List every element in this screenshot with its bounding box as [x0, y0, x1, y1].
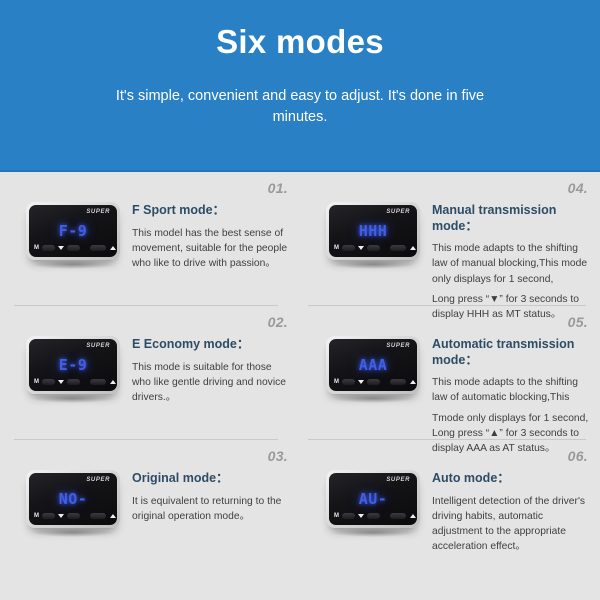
- device-button-up-pad[interactable]: [90, 513, 106, 519]
- device-button-down-pad[interactable]: [367, 245, 380, 251]
- device-button-row: M: [334, 510, 412, 521]
- device-button-row: M: [334, 242, 412, 253]
- mode-text-block: Manual transmission mode：This mode adapt…: [432, 180, 590, 306]
- device-face: SUPERAU-M: [329, 473, 417, 525]
- throttle-controller-device: SUPERAAAM: [326, 336, 420, 394]
- mode-number: 04.: [568, 180, 588, 196]
- device-led-display: NO-: [29, 490, 117, 508]
- device-button-row: M: [34, 510, 112, 521]
- device-led-display: AAA: [329, 356, 417, 374]
- mode-title: Original mode：: [132, 471, 290, 487]
- mode-row: 01.SUPERF-9MF Sport mode：This model has …: [0, 172, 600, 306]
- device-brand-logo: SUPER: [86, 209, 110, 215]
- mode-description: Intelligent detection of the driver's dr…: [432, 494, 590, 555]
- triangle-up-icon[interactable]: [410, 514, 416, 518]
- page-title: Six modes: [0, 24, 600, 60]
- throttle-controller-device: SUPERAU-M: [326, 470, 420, 528]
- page-header: Six modes It's simple, convenient and ea…: [0, 0, 600, 172]
- device-illustration: SUPERAAAM: [314, 314, 432, 440]
- device-led-display: HHH: [329, 222, 417, 240]
- modes-grid: 01.SUPERF-9MF Sport mode：This model has …: [0, 172, 600, 600]
- device-button-m[interactable]: M: [34, 245, 39, 251]
- mode-title: E Economy mode：: [132, 337, 290, 353]
- device-face: SUPERF-9M: [29, 205, 117, 257]
- page-subtitle: It's simple, convenient and easy to adju…: [105, 86, 495, 128]
- device-button-m-pad[interactable]: [342, 245, 355, 251]
- mode-text-block: F Sport mode：This model has the best sen…: [132, 180, 290, 306]
- mode-number: 01.: [268, 180, 288, 196]
- device-illustration: SUPERNO-M: [14, 448, 132, 574]
- mode-title: Manual transmission mode：: [432, 203, 584, 234]
- triangle-down-icon[interactable]: [58, 514, 64, 518]
- mode-text-block: Original mode：It is equivalent to return…: [132, 448, 290, 574]
- device-illustration: SUPERAU-M: [314, 448, 432, 574]
- throttle-controller-device: SUPERHHHM: [326, 202, 420, 260]
- mode-number: 05.: [568, 314, 588, 330]
- device-button-down-pad[interactable]: [67, 379, 80, 385]
- throttle-controller-device: SUPERF-9M: [26, 202, 120, 260]
- device-face: SUPERAAAM: [329, 339, 417, 391]
- mode-number: 06.: [568, 448, 588, 464]
- triangle-up-icon[interactable]: [110, 514, 116, 518]
- device-illustration: SUPERE-9M: [14, 314, 132, 440]
- mode-title: Auto mode：: [432, 471, 584, 487]
- device-face: SUPERNO-M: [29, 473, 117, 525]
- device-button-m[interactable]: M: [334, 245, 339, 251]
- device-button-up-pad[interactable]: [390, 513, 406, 519]
- device-button-up-pad[interactable]: [390, 379, 406, 385]
- device-button-m-pad[interactable]: [42, 379, 55, 385]
- mode-card: 01.SUPERF-9MF Sport mode：This model has …: [0, 172, 300, 306]
- device-led-display: E-9: [29, 356, 117, 374]
- mode-description: This model has the best sense of movemen…: [132, 226, 290, 272]
- device-button-down-pad[interactable]: [67, 513, 80, 519]
- device-face: SUPERHHHM: [329, 205, 417, 257]
- device-button-m-pad[interactable]: [342, 513, 355, 519]
- mode-title: F Sport mode：: [132, 203, 290, 219]
- device-button-up-pad[interactable]: [390, 245, 406, 251]
- device-button-up-pad[interactable]: [90, 379, 106, 385]
- device-illustration: SUPERF-9M: [14, 180, 132, 306]
- device-button-m[interactable]: M: [334, 379, 339, 385]
- triangle-down-icon[interactable]: [358, 246, 364, 250]
- device-button-m-pad[interactable]: [342, 379, 355, 385]
- device-brand-logo: SUPER: [386, 477, 410, 483]
- mode-title: Automatic transmission mode：: [432, 337, 584, 368]
- device-button-m-pad[interactable]: [42, 245, 55, 251]
- mode-text-block: Automatic transmission mode：This mode ad…: [432, 314, 590, 440]
- device-button-m[interactable]: M: [34, 513, 39, 519]
- device-button-m-pad[interactable]: [42, 513, 55, 519]
- mode-number: 03.: [268, 448, 288, 464]
- mode-description: This mode adapts to the shifting law of …: [432, 375, 590, 405]
- device-button-row: M: [334, 376, 412, 387]
- device-button-down-pad[interactable]: [67, 245, 80, 251]
- device-brand-logo: SUPER: [386, 343, 410, 349]
- triangle-up-icon[interactable]: [410, 380, 416, 384]
- mode-card: 03.SUPERNO-MOriginal mode：It is equivale…: [0, 440, 300, 574]
- device-button-down-pad[interactable]: [367, 379, 380, 385]
- mode-card: 02.SUPERE-9ME Economy mode：This mode is …: [0, 306, 300, 440]
- device-button-up-pad[interactable]: [90, 245, 106, 251]
- triangle-down-icon[interactable]: [58, 246, 64, 250]
- triangle-down-icon[interactable]: [58, 380, 64, 384]
- device-button-m[interactable]: M: [334, 513, 339, 519]
- triangle-down-icon[interactable]: [358, 380, 364, 384]
- device-face: SUPERE-9M: [29, 339, 117, 391]
- mode-text-block: Auto mode：Intelligent detection of the d…: [432, 448, 590, 574]
- device-button-row: M: [34, 242, 112, 253]
- mode-description: This mode adapts to the shifting law of …: [432, 241, 590, 287]
- mode-card: 04.SUPERHHHMManual transmission mode：Thi…: [300, 172, 600, 306]
- device-button-m[interactable]: M: [34, 379, 39, 385]
- mode-description: This mode is suitable for those who like…: [132, 360, 290, 406]
- device-led-display: F-9: [29, 222, 117, 240]
- triangle-up-icon[interactable]: [110, 380, 116, 384]
- throttle-controller-device: SUPERE-9M: [26, 336, 120, 394]
- mode-row: 02.SUPERE-9ME Economy mode：This mode is …: [0, 306, 600, 440]
- mode-card: 05.SUPERAAAMAutomatic transmission mode：…: [300, 306, 600, 440]
- device-led-display: AU-: [329, 490, 417, 508]
- triangle-up-icon[interactable]: [410, 246, 416, 250]
- mode-number: 02.: [268, 314, 288, 330]
- device-brand-logo: SUPER: [86, 343, 110, 349]
- mode-row: 03.SUPERNO-MOriginal mode：It is equivale…: [0, 440, 600, 574]
- mode-text-block: E Economy mode：This mode is suitable for…: [132, 314, 290, 440]
- device-brand-logo: SUPER: [86, 477, 110, 483]
- triangle-down-icon[interactable]: [358, 514, 364, 518]
- device-illustration: SUPERHHHM: [314, 180, 432, 306]
- device-button-down-pad[interactable]: [367, 513, 380, 519]
- device-button-row: M: [34, 376, 112, 387]
- triangle-up-icon[interactable]: [110, 246, 116, 250]
- throttle-controller-device: SUPERNO-M: [26, 470, 120, 528]
- device-brand-logo: SUPER: [386, 209, 410, 215]
- mode-description: It is equivalent to returning to the ori…: [132, 494, 290, 524]
- mode-card: 06.SUPERAU-MAuto mode：Intelligent detect…: [300, 440, 600, 574]
